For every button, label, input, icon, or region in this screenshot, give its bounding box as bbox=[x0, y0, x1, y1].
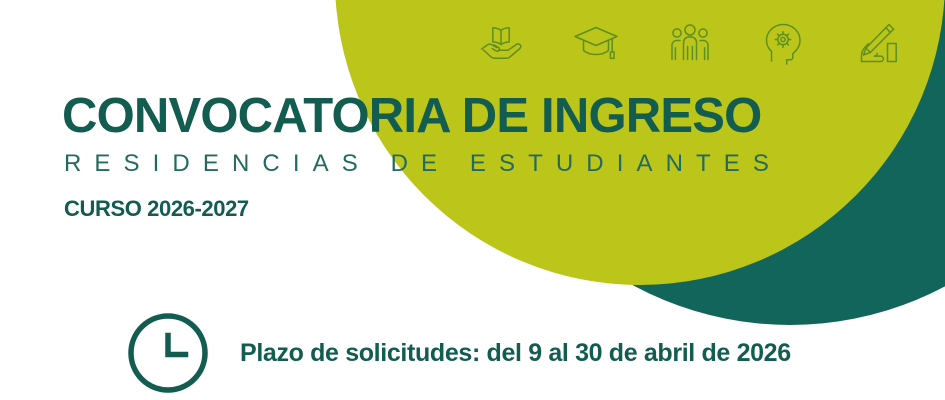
head-with-gear-icon bbox=[754, 15, 816, 71]
page-subtitle: RESIDENCIAS DE ESTUDIANTES bbox=[64, 152, 782, 176]
deadline-row: Plazo de solicitudes: del 9 al 30 de abr… bbox=[125, 310, 791, 396]
deadline-text: Plazo de solicitudes: del 9 al 30 de abr… bbox=[240, 339, 791, 368]
clock-icon bbox=[125, 310, 211, 396]
group-of-people-icon bbox=[659, 15, 721, 71]
hand-writing-pencil-icon bbox=[848, 15, 910, 71]
hand-holding-book-icon bbox=[470, 15, 532, 71]
graduation-cap-icon bbox=[565, 15, 627, 71]
page-title: CONVOCATORIA DE INGRESO bbox=[62, 92, 761, 141]
course-year-label: CURSO 2026-2027 bbox=[64, 198, 249, 220]
convocatoria-banner: CONVOCATORIA DE INGRESO RESIDENCIAS DE E… bbox=[0, 0, 945, 400]
icon-row bbox=[470, 14, 910, 72]
banner-content: CONVOCATORIA DE INGRESO RESIDENCIAS DE E… bbox=[0, 0, 945, 400]
